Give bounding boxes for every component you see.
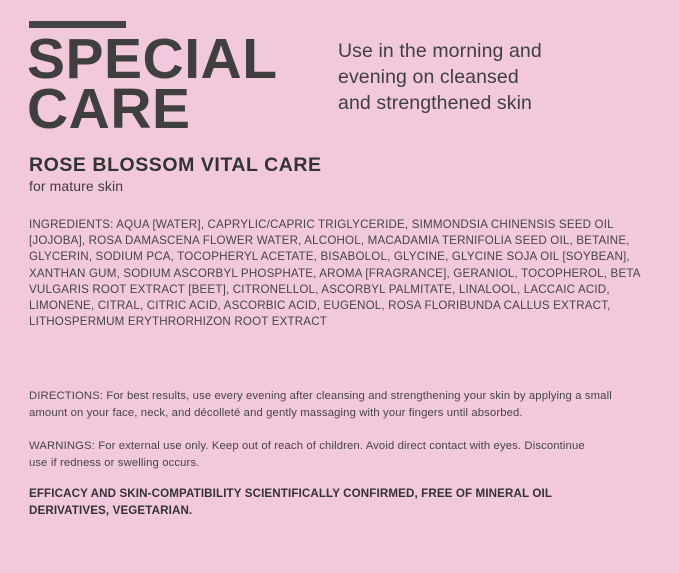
ingredients-list: INGREDIENTS: AQUA [WATER], CAPRYLIC/CAPR…: [29, 217, 649, 330]
usage-note-line-3: and strengthened skin: [338, 90, 638, 116]
page-title: SPECIAL CARE: [27, 34, 327, 134]
usage-note-line-1: Use in the morning and: [338, 38, 638, 64]
page-title-line-2: CARE: [27, 84, 327, 134]
warnings-text: WARNINGS: For external use only. Keep ou…: [29, 438, 589, 471]
directions-text: DIRECTIONS: For best results, use every …: [29, 388, 645, 421]
product-subtitle: for mature skin: [29, 177, 123, 195]
usage-note-line-2: evening on cleansed: [338, 64, 638, 90]
product-name: ROSE BLOSSOM VITAL CARE: [29, 154, 322, 176]
product-label: SPECIAL CARE Use in the morning and even…: [0, 0, 679, 573]
usage-instruction-note: Use in the morning and evening on cleans…: [338, 38, 638, 116]
efficacy-statement: EFFICACY AND SKIN-COMPATIBILITY SCIENTIF…: [29, 486, 629, 519]
